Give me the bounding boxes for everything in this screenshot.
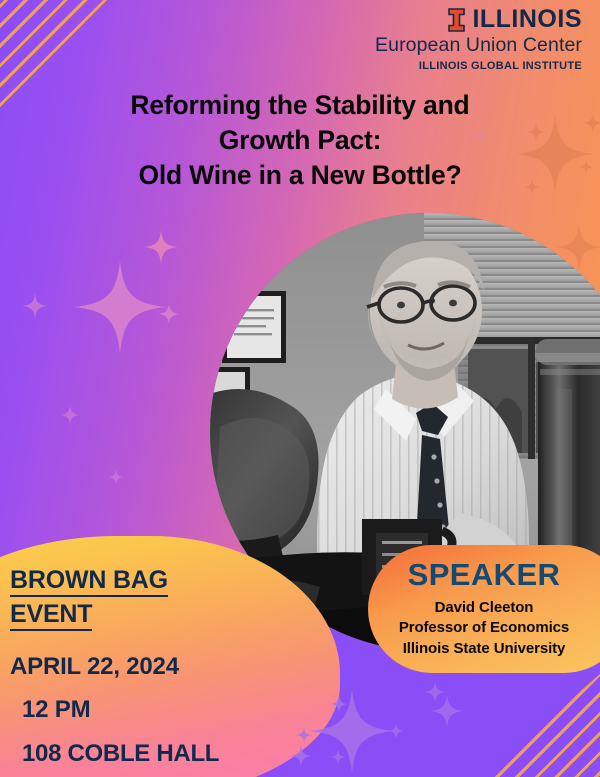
event-kind-line-2-text: EVENT xyxy=(10,600,92,631)
event-location: 108 COBLE HALL xyxy=(22,740,310,768)
institute-name: ILLINOIS GLOBAL INSTITUTE xyxy=(375,61,582,72)
illinois-block-i-icon xyxy=(448,8,465,32)
center-name: European Union Center xyxy=(375,36,582,56)
event-kind-line-1-text: BROWN BAG xyxy=(10,566,168,597)
speaker-title: Professor of Economics xyxy=(368,618,600,639)
speaker-affiliation: Illinois State University xyxy=(368,639,600,660)
sparkle-icon xyxy=(60,404,80,426)
event-kind-line-2: EVENT xyxy=(10,597,310,631)
poster-title: Reforming the Stability and Growth Pact:… xyxy=(0,88,600,193)
sparkle-icon xyxy=(144,228,178,266)
title-line-3: Old Wine in a New Bottle? xyxy=(30,158,570,193)
illinois-logo: ILLINOIS European Union Center ILLINOIS … xyxy=(375,7,582,72)
event-poster: Washing Univers in St.Lo P xyxy=(0,0,600,777)
title-line-2: Growth Pact: xyxy=(30,123,570,158)
sparkle-icon xyxy=(22,292,48,320)
illinois-wordmark: ILLINOIS xyxy=(472,7,582,32)
sparkle-icon xyxy=(108,468,124,486)
event-time: 12 PM xyxy=(22,696,310,724)
title-line-1: Reforming the Stability and xyxy=(30,88,570,123)
speaker-info: SPEAKER David Cleeton Professor of Econo… xyxy=(368,545,600,659)
event-details: BROWN BAG EVENT APRIL 22, 2024 12 PM 108… xyxy=(10,563,310,768)
sparkle-icon xyxy=(74,258,166,356)
event-kind-line-1: BROWN BAG xyxy=(10,563,310,597)
speaker-name: David Cleeton xyxy=(368,598,600,619)
illinois-logo-row: ILLINOIS xyxy=(375,7,582,32)
sparkle-icon xyxy=(158,302,180,326)
speaker-heading: SPEAKER xyxy=(368,559,600,592)
event-date: APRIL 22, 2024 xyxy=(10,653,310,681)
